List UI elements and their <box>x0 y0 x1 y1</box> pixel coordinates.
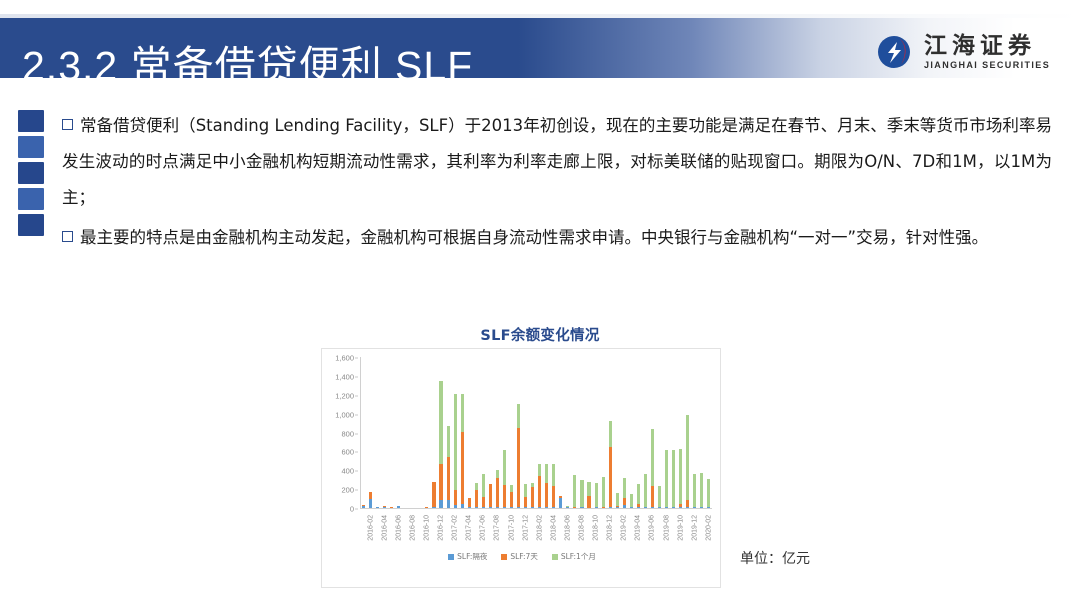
x-axis-tick-label: 2016-08 <box>409 515 416 541</box>
legend-label: SLF:隔夜 <box>457 551 487 562</box>
bar-segment <box>700 507 703 508</box>
stacked-bar <box>545 464 548 508</box>
bar-segment <box>559 498 562 508</box>
stacked-bar <box>482 474 485 508</box>
y-axis-tick-mark <box>355 490 358 491</box>
bar-segment <box>665 450 668 507</box>
stacked-bar <box>461 394 464 508</box>
bar-segment <box>616 493 619 507</box>
bar-group <box>586 357 593 508</box>
bar-group <box>459 357 466 508</box>
bar-segment <box>447 426 450 457</box>
x-axis-tick-label: 2019-06 <box>649 515 656 541</box>
stacked-bar <box>700 473 703 508</box>
bar-segment <box>609 507 612 508</box>
stacked-bar <box>475 483 478 508</box>
bar-segment <box>552 486 555 508</box>
stacked-bar <box>538 464 541 508</box>
bar-group <box>691 357 698 508</box>
bar-segment <box>679 449 682 504</box>
bar-segment <box>545 507 548 508</box>
legend-item[interactable]: SLF:7天 <box>501 551 537 562</box>
bar-segment <box>439 500 442 508</box>
bar-segment <box>369 499 372 508</box>
bar-segment <box>609 447 612 507</box>
bar-group <box>360 357 367 508</box>
logo-name-cn: 江海证券 <box>924 35 1050 58</box>
stacked-bar <box>587 482 590 508</box>
bar-segment <box>475 490 478 507</box>
bar-segment <box>595 483 598 507</box>
x-axis-tick-label: 2018-04 <box>550 515 557 541</box>
x-axis-tick-label: 2018-10 <box>593 515 600 541</box>
decor-square <box>18 162 44 184</box>
stacked-bar <box>658 486 661 508</box>
decor-square <box>18 188 44 210</box>
bullet-paragraph-2: 最主要的特点是由金融机构主动发起，金融机构可根据自身流动性需求申请。中央银行与金… <box>62 220 1052 256</box>
bar-segment <box>538 476 541 507</box>
stacked-bar <box>609 421 612 509</box>
bar-segment <box>644 474 647 507</box>
stacked-bar <box>651 429 654 508</box>
bar-segment <box>503 485 506 507</box>
legend-item[interactable]: SLF:隔夜 <box>448 551 487 562</box>
bar-segment <box>616 507 619 508</box>
y-axis-tick-label: 1,600 <box>335 354 354 363</box>
bar-segment <box>623 498 626 505</box>
bar-group <box>621 357 628 508</box>
bar-segment <box>524 507 527 508</box>
bar-segment <box>602 507 605 508</box>
bar-segment <box>489 507 492 508</box>
stacked-bar <box>679 449 682 508</box>
bar-segment <box>538 507 541 508</box>
x-axis-tick-label: 2019-10 <box>677 515 684 541</box>
bar-segment <box>644 507 647 508</box>
bar-series-container <box>360 357 712 508</box>
stacked-bar <box>489 484 492 508</box>
bar-group <box>705 357 712 508</box>
logo-name-en: JIANGHAI SECURITIES <box>924 61 1050 70</box>
bar-group <box>423 357 430 508</box>
stacked-bar <box>447 426 450 508</box>
bar-segment <box>524 484 527 497</box>
bar-segment <box>672 507 675 508</box>
bar-segment <box>545 464 548 483</box>
x-axis-tick-label: 2020-02 <box>705 515 712 541</box>
bar-segment <box>524 497 527 507</box>
bar-group <box>473 357 480 508</box>
bar-segment <box>686 507 689 508</box>
x-axis-tick-label: 2019-02 <box>621 515 628 541</box>
bar-segment <box>510 485 513 492</box>
bar-segment <box>573 507 576 508</box>
unit-caption: 单位：亿元 <box>740 548 810 568</box>
bar-group <box>381 357 388 508</box>
bar-segment <box>545 483 548 507</box>
y-axis-tick-label: 1,200 <box>335 391 354 400</box>
stacked-bar <box>630 494 633 508</box>
legend-label: SLF:7天 <box>510 551 537 562</box>
stacked-bar <box>707 479 710 508</box>
bar-segment <box>468 498 471 507</box>
stacked-bar <box>517 404 520 508</box>
bar-segment <box>390 507 393 508</box>
bar-group <box>642 357 649 508</box>
bar-group <box>635 357 642 508</box>
x-axis-tick-label: 2016-04 <box>381 515 388 541</box>
bar-segment <box>454 505 457 508</box>
decor-square <box>18 110 44 132</box>
bar-segment <box>517 404 520 428</box>
brand-logo: 江海证券 JIANGHAI SECURITIES <box>876 28 1066 76</box>
decor-square <box>18 136 44 158</box>
bar-segment <box>580 480 583 507</box>
x-axis-tick-label: 2016-02 <box>367 515 374 541</box>
stacked-bar <box>425 507 428 508</box>
bar-segment <box>432 482 435 507</box>
bar-segment <box>651 429 654 486</box>
y-axis-tick-mark <box>355 471 358 472</box>
bar-group <box>494 357 501 508</box>
bar-group <box>480 357 487 508</box>
bar-segment <box>658 507 661 508</box>
y-axis-tick-label: 400 <box>341 467 354 476</box>
jianghai-logo-icon <box>876 32 916 72</box>
bar-group <box>501 357 508 508</box>
bar-segment <box>496 478 499 507</box>
bar-group <box>388 357 395 508</box>
stacked-bar <box>602 477 605 508</box>
bar-group <box>374 357 381 508</box>
chart-plot-area: 02004006008001,0001,2001,4001,600 <box>360 357 712 509</box>
bar-group <box>402 357 409 508</box>
y-axis-tick-mark <box>355 358 358 359</box>
bar-group <box>670 357 677 508</box>
chart-legend: SLF:隔夜SLF:7天SLF:1个月 <box>322 551 722 562</box>
x-axis-tick-label: 2019-12 <box>691 515 698 541</box>
bar-segment <box>665 507 668 508</box>
stacked-bar <box>573 475 576 508</box>
chart-title: SLF余额变化情况 <box>0 324 1080 345</box>
bar-segment <box>454 490 457 505</box>
x-axis-tick-label: 2018-12 <box>607 515 614 541</box>
stacked-bar <box>559 496 562 508</box>
decor-square <box>18 214 44 236</box>
bar-segment <box>439 464 442 500</box>
stacked-bar <box>531 483 534 508</box>
x-axis-tick-label: 2018-06 <box>564 515 571 541</box>
bar-segment <box>700 473 703 507</box>
bar-segment <box>496 470 499 478</box>
bar-segment <box>503 450 506 485</box>
bar-segment <box>376 507 379 508</box>
bar-segment <box>538 464 541 476</box>
slf-balance-chart: 02004006008001,0001,2001,4001,600 2016-0… <box>321 348 721 588</box>
bar-group <box>395 357 402 508</box>
bar-segment <box>432 507 435 508</box>
bar-group <box>614 357 621 508</box>
bar-segment <box>580 507 583 508</box>
bar-group <box>515 357 522 508</box>
bar-group <box>543 357 550 508</box>
bar-segment <box>707 507 710 508</box>
stacked-bar <box>383 506 386 508</box>
bar-segment <box>496 507 499 508</box>
bar-group <box>487 357 494 508</box>
bar-group <box>536 357 543 508</box>
paragraph-2-text: 最主要的特点是由金融机构主动发起，金融机构可根据自身流动性需求申请。中央银行与金… <box>80 228 988 247</box>
bar-group <box>649 357 656 508</box>
y-axis-tick-mark <box>355 433 358 434</box>
x-axis-tick-label: 2016-10 <box>423 515 430 541</box>
legend-color-swatch <box>448 554 454 560</box>
bar-segment <box>679 507 682 508</box>
y-axis-tick-label: 200 <box>341 486 354 495</box>
bar-segment <box>531 507 534 508</box>
x-axis-tick-label: 2017-06 <box>480 515 487 541</box>
stacked-bar <box>552 464 555 508</box>
page-title: 2.3.2 常备借贷便利 SLF <box>22 37 473 95</box>
bar-segment <box>587 496 590 508</box>
paragraph-1-text: 常备借贷便利（Standing Lending Facility，SLF）于20… <box>62 116 1052 207</box>
y-axis-tick-label: 800 <box>341 429 354 438</box>
y-axis: 02004006008001,0001,2001,4001,600 <box>324 357 358 509</box>
stacked-bar <box>644 474 647 508</box>
x-axis-tick-label: 2017-10 <box>508 515 515 541</box>
bar-group <box>593 357 600 508</box>
bar-segment <box>672 450 675 506</box>
bar-segment <box>566 507 569 508</box>
bullet-paragraph-1: 常备借贷便利（Standing Lending Facility，SLF）于20… <box>62 108 1052 216</box>
logo-text-block: 江海证券 JIANGHAI SECURITIES <box>924 35 1050 70</box>
bar-group <box>607 357 614 508</box>
stacked-bar <box>637 484 640 508</box>
stacked-bar <box>595 483 598 508</box>
bar-segment <box>707 479 710 507</box>
bar-segment <box>468 507 471 508</box>
bar-segment <box>651 507 654 508</box>
bar-group <box>466 357 473 508</box>
stacked-bar <box>390 507 393 508</box>
bar-segment <box>602 477 605 507</box>
bar-segment <box>475 483 478 490</box>
left-decoration-squares <box>18 110 44 240</box>
stacked-bar <box>496 470 499 508</box>
bar-group <box>656 357 663 508</box>
y-axis-tick-label: 1,000 <box>335 410 354 419</box>
bar-segment <box>439 381 442 465</box>
stacked-bar <box>524 484 527 508</box>
bar-group <box>508 357 515 508</box>
bar-group <box>684 357 691 508</box>
bar-segment <box>693 474 696 507</box>
bar-group <box>557 357 564 508</box>
bar-segment <box>425 507 428 508</box>
stacked-bar <box>665 450 668 508</box>
y-axis-tick-label: 1,400 <box>335 372 354 381</box>
body-text-block: 常备借贷便利（Standing Lending Facility，SLF）于20… <box>62 108 1052 260</box>
bar-group <box>430 357 437 508</box>
bar-group <box>550 357 557 508</box>
stacked-bar <box>672 450 675 508</box>
bar-segment <box>397 506 400 508</box>
square-bullet-icon <box>62 119 73 130</box>
bar-group <box>571 357 578 508</box>
bar-segment <box>573 475 576 507</box>
bar-group <box>529 357 536 508</box>
bar-segment <box>623 505 626 508</box>
stacked-bar <box>623 478 626 508</box>
stacked-bar <box>566 506 569 508</box>
bar-segment <box>609 421 612 447</box>
bar-group <box>416 357 423 508</box>
bar-segment <box>447 457 450 500</box>
bar-segment <box>447 500 450 508</box>
bar-group <box>522 357 529 508</box>
bar-segment <box>517 428 520 507</box>
bar-segment <box>510 507 513 508</box>
bar-segment <box>552 507 555 508</box>
bar-segment <box>686 415 689 500</box>
stacked-bar <box>376 507 379 508</box>
bar-segment <box>517 507 520 508</box>
bar-group <box>600 357 607 508</box>
bar-segment <box>482 474 485 497</box>
stacked-bar <box>369 492 372 508</box>
stacked-bar <box>510 485 513 508</box>
bar-group <box>663 357 670 508</box>
stacked-bar <box>397 506 400 508</box>
bar-segment <box>503 507 506 508</box>
stacked-bar <box>686 415 689 508</box>
stacked-bar <box>362 505 365 508</box>
bar-segment <box>651 486 654 508</box>
bar-group <box>578 357 585 508</box>
y-axis-tick-mark <box>355 414 358 415</box>
bar-segment <box>482 507 485 508</box>
y-axis-tick-label: 0 <box>350 505 354 514</box>
bar-segment <box>595 507 598 508</box>
bar-segment <box>658 486 661 507</box>
bar-segment <box>461 394 464 432</box>
bar-group <box>438 357 445 508</box>
stacked-bar <box>432 482 435 508</box>
x-axis-tick-label: 2017-02 <box>452 515 459 541</box>
bar-group <box>445 357 452 508</box>
stacked-bar <box>616 493 619 508</box>
y-axis-tick-label: 600 <box>341 448 354 457</box>
x-axis-line <box>360 508 712 509</box>
legend-item[interactable]: SLF:1个月 <box>552 551 596 562</box>
x-axis-tick-label: 2019-04 <box>635 515 642 541</box>
x-axis-tick-label: 2016-12 <box>438 515 445 541</box>
bar-segment <box>383 507 386 508</box>
bar-group <box>698 357 705 508</box>
bar-group <box>677 357 684 508</box>
legend-label: SLF:1个月 <box>561 551 596 562</box>
x-axis-tick-label: 2019-08 <box>663 515 670 541</box>
bar-segment <box>630 507 633 508</box>
stacked-bar <box>693 474 696 508</box>
bar-segment <box>531 487 534 507</box>
bar-segment <box>461 504 464 508</box>
stacked-bar <box>454 394 457 508</box>
bar-segment <box>482 497 485 507</box>
square-bullet-icon <box>62 231 73 242</box>
x-axis-tick-label: 2017-12 <box>522 515 529 541</box>
bar-group <box>452 357 459 508</box>
stacked-bar <box>580 480 583 508</box>
bar-segment <box>637 484 640 503</box>
bar-group <box>564 357 571 508</box>
bar-segment <box>454 394 457 490</box>
legend-color-swatch <box>552 554 558 560</box>
bar-group <box>409 357 416 508</box>
bar-segment <box>475 507 478 508</box>
y-axis-tick-mark <box>355 509 358 510</box>
stacked-bar <box>468 498 471 508</box>
y-axis-tick-mark <box>355 452 358 453</box>
bar-segment <box>461 432 464 504</box>
x-axis-tick-label: 2017-04 <box>466 515 473 541</box>
stacked-bar <box>503 450 506 508</box>
bar-segment <box>552 464 555 486</box>
x-axis-tick-label: 2016-06 <box>395 515 402 541</box>
bar-segment <box>630 494 633 506</box>
x-axis-tick-label: 2017-08 <box>494 515 501 541</box>
bar-segment <box>693 507 696 508</box>
bar-group <box>367 357 374 508</box>
x-axis-tick-label: 2018-08 <box>578 515 585 541</box>
bar-segment <box>587 482 590 496</box>
y-axis-tick-mark <box>355 376 358 377</box>
bar-segment <box>362 506 365 508</box>
bar-segment <box>637 507 640 508</box>
x-axis-tick-label: 2018-02 <box>536 515 543 541</box>
bar-group <box>628 357 635 508</box>
stacked-bar <box>439 381 442 508</box>
bar-segment <box>686 500 689 507</box>
bar-segment <box>489 484 492 507</box>
y-axis-tick-mark <box>355 395 358 396</box>
bar-segment <box>623 478 626 498</box>
bar-segment <box>510 492 513 507</box>
legend-color-swatch <box>501 554 507 560</box>
